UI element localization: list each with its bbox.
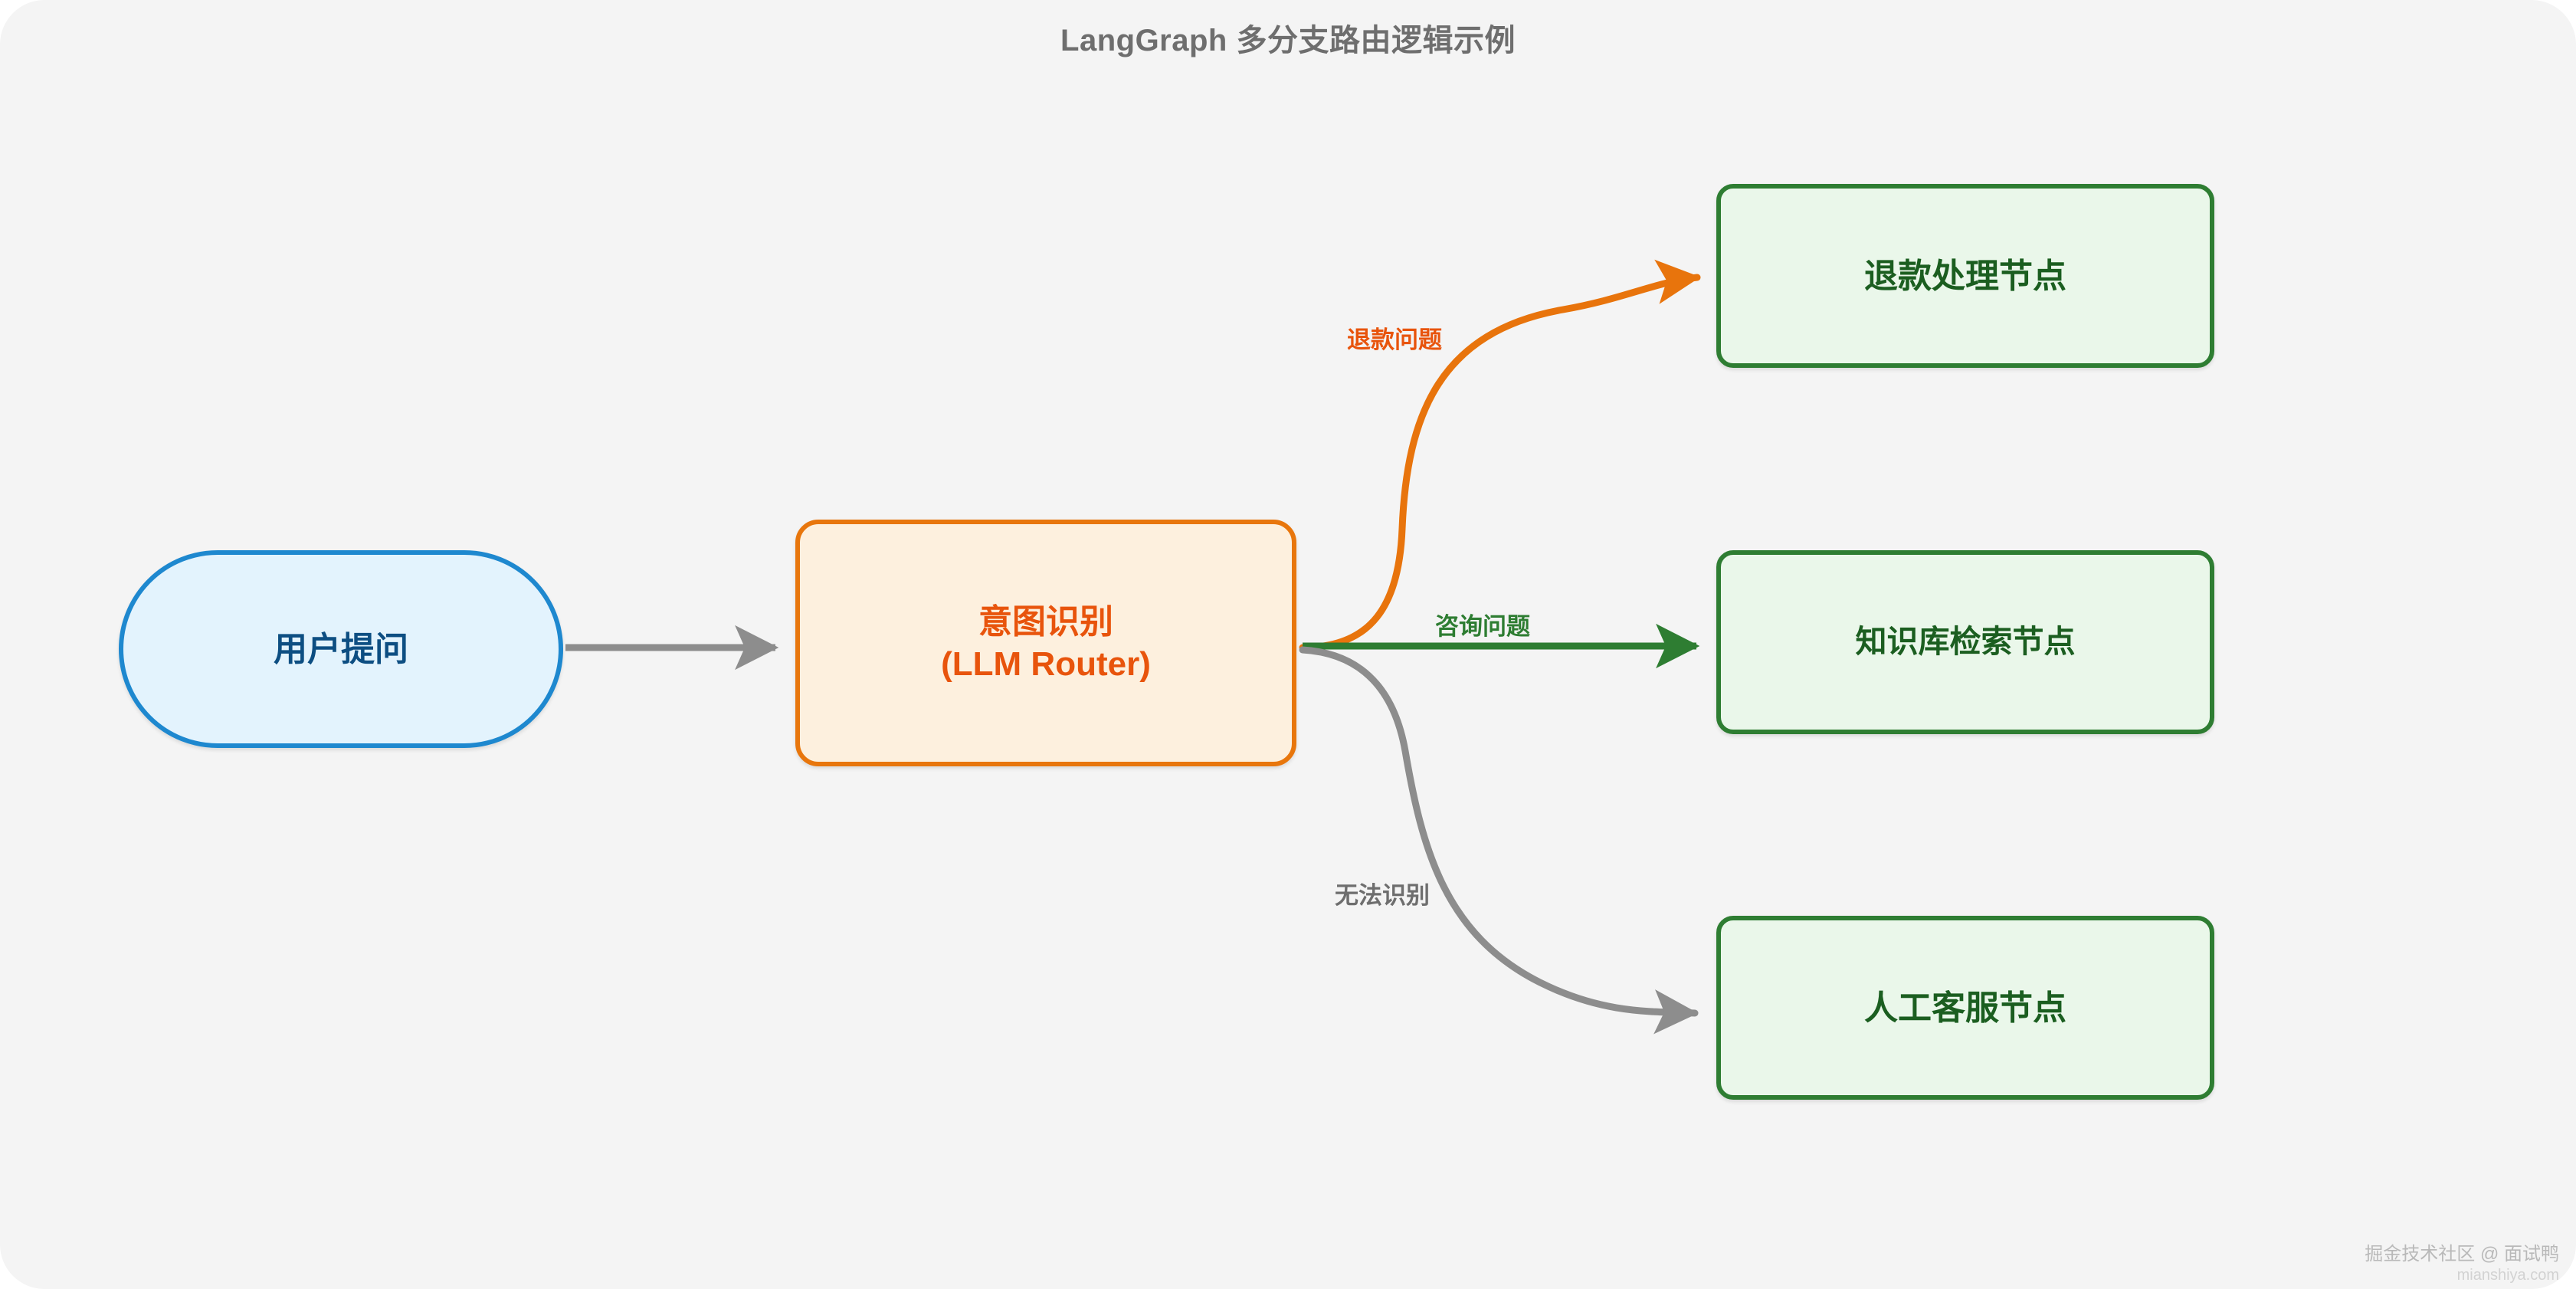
node-human-support[interactable]: 人工客服节点 [1716,916,2214,1100]
node-intent-router[interactable]: 意图识别 (LLM Router) [795,520,1296,766]
edge-label-refund: 退款问题 [1347,320,1442,355]
watermark-line2: mianshiya.com [2365,1267,2559,1284]
node-refund-handler-label: 退款处理节点 [1864,255,2066,297]
node-intent-router-line1: 意图识别 [941,601,1151,643]
node-refund-handler[interactable]: 退款处理节点 [1716,184,2214,368]
watermark-line1: 掘金技术社区 @ 面试鸭 [2365,1238,2559,1265]
edge-label-query: 咨询问题 [1435,607,1530,641]
node-human-support-label: 人工客服节点 [1864,987,2066,1029]
node-user-question-label: 用户提问 [274,628,408,671]
edge-router-to-human [1303,650,1695,1013]
diagram-canvas: LangGraph 多分支路由逻辑示例 用户提问 意图识别 (LLM Rou [0,0,2576,1289]
node-knowledge-retrieval[interactable]: 知识库检索节点 [1716,550,2214,734]
watermark: 掘金技术社区 @ 面试鸭 mianshiya.com [2365,1238,2559,1284]
node-user-question[interactable]: 用户提问 [119,550,563,748]
edge-label-fallback: 无法识别 [1335,876,1430,910]
node-knowledge-retrieval-label: 知识库检索节点 [1856,622,2076,661]
node-intent-router-line2: (LLM Router) [941,643,1151,685]
